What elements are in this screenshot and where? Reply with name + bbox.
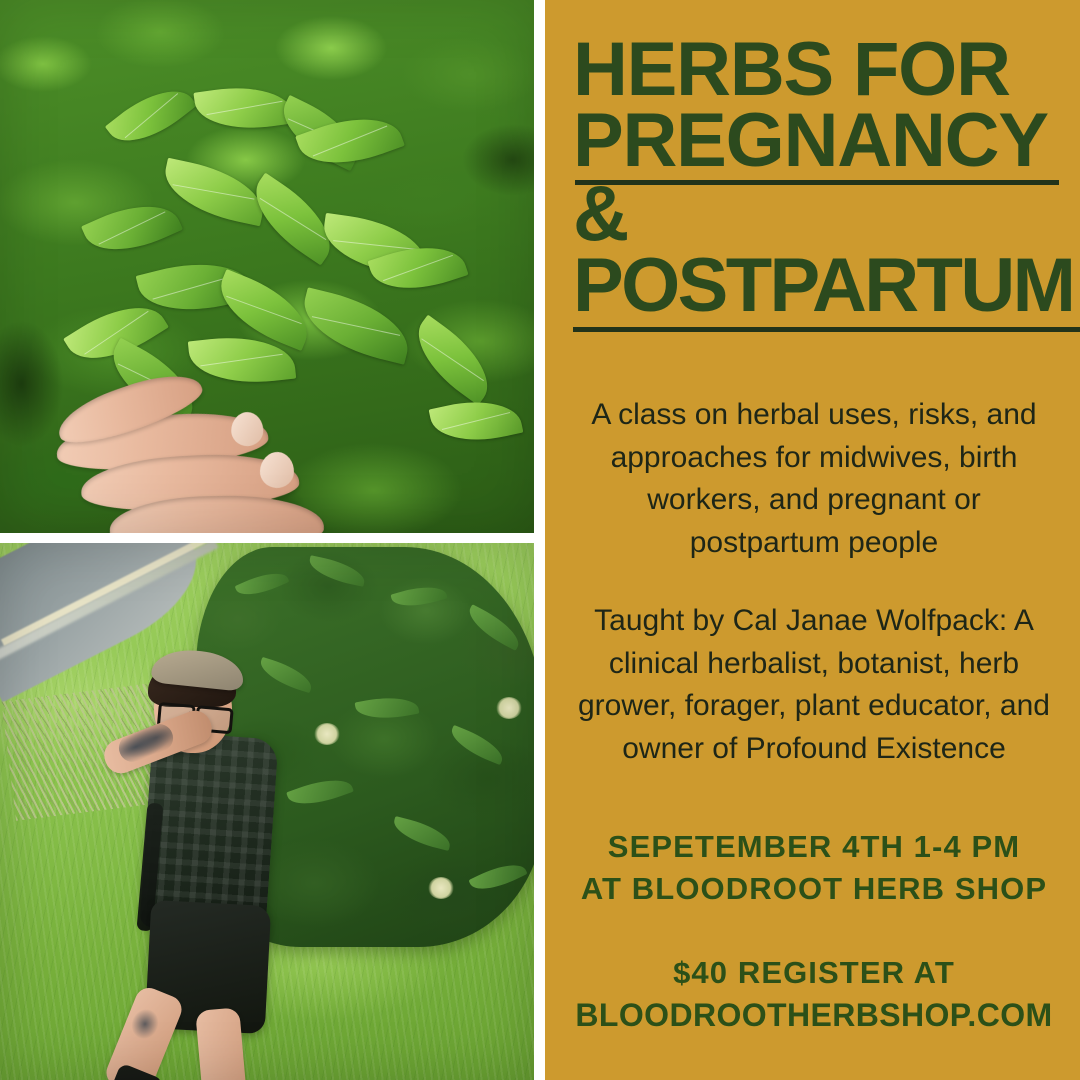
forager-carrying-harvest-photo	[0, 543, 534, 1080]
bundle-flower	[496, 697, 522, 719]
content-panel: HERBS FOR PREGNANCY & POSTPARTUM A class…	[545, 0, 1080, 1080]
event-datetime-location: SEPETEMBER 4TH 1-4 PM AT BLOODROOT HERB …	[569, 826, 1059, 910]
registration-info: $40 REGISTER AT BLOODROOTHERBSHOP.COM	[569, 952, 1059, 1038]
bundle-leaf	[390, 580, 447, 613]
photo-column	[0, 0, 534, 1080]
registration-website[interactable]: BLOODROOTHERBSHOP.COM	[569, 994, 1059, 1038]
event-location: AT BLOODROOT HERB SHOP	[569, 868, 1059, 910]
bundle-leaf	[390, 816, 453, 851]
title-line-1: HERBS FOR	[573, 34, 1063, 105]
bundle-leaf	[355, 692, 420, 724]
title-ampersand: &	[573, 177, 1063, 250]
title-line-4: POSTPARTUM	[573, 250, 1063, 321]
raspberry-leaves-in-hand-photo	[0, 0, 534, 533]
page-title: HERBS FOR PREGNANCY & POSTPARTUM	[573, 34, 1063, 322]
bundle-leaf	[446, 725, 507, 765]
forager-person	[96, 617, 326, 1077]
instructor-bio: Taught by Cal Janae Wolfpack: A clinical…	[575, 600, 1053, 770]
bundle-leaf	[468, 856, 527, 899]
bundle-leaf	[235, 565, 290, 603]
title-line-2: PREGNANCY	[573, 105, 1063, 176]
flyer-poster: HERBS FOR PREGNANCY & POSTPARTUM A class…	[0, 0, 1080, 1080]
registration-price: $40 REGISTER AT	[569, 952, 1059, 994]
fingernail	[231, 412, 264, 447]
event-date-time: SEPETEMBER 4TH 1-4 PM	[569, 826, 1059, 868]
bundle-flower	[428, 877, 454, 899]
class-description: A class on herbal uses, risks, and appro…	[575, 394, 1053, 564]
bundle-leaf	[307, 555, 368, 587]
